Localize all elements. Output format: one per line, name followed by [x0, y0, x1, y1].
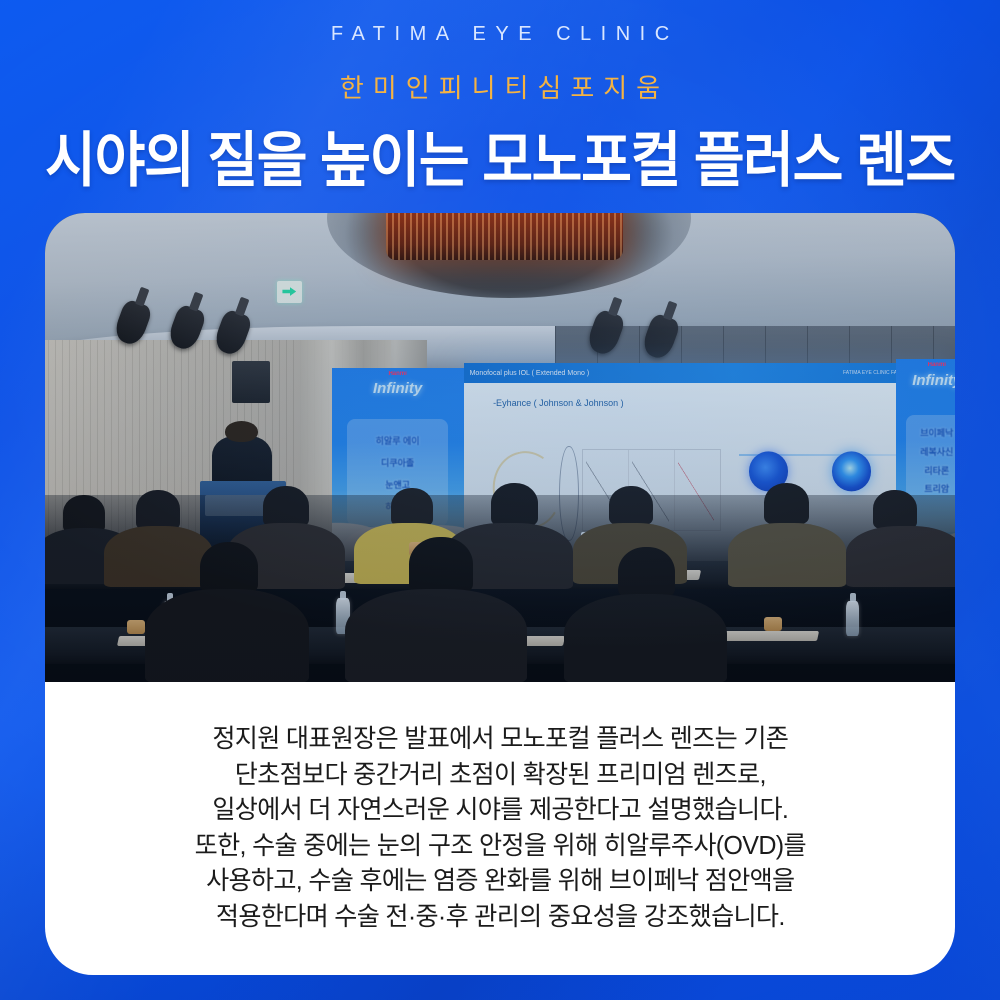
audience-head	[873, 490, 917, 529]
pa-speaker	[232, 361, 270, 403]
audience-shoulders	[104, 526, 213, 587]
audience-head	[136, 490, 180, 529]
slide-header-bar: Monofocal plus IOL ( Extended Mono ) FAT…	[464, 363, 955, 382]
audience-shoulders	[564, 594, 728, 683]
right-panel-logo: Infinity	[896, 372, 955, 389]
audience-head	[618, 547, 674, 599]
exit-sign-icon	[277, 281, 302, 303]
audience-head	[764, 483, 810, 523]
halo-render-eyhance	[832, 452, 871, 491]
left-panel-brand: Hanmi	[332, 371, 464, 377]
audience-head	[409, 537, 473, 593]
list-item: 리타론	[906, 464, 955, 477]
audience-shoulders	[145, 589, 309, 683]
caption-line: 단초점보다 중간거리 초점이 확장된 프리미엄 렌즈로,	[194, 758, 805, 794]
audience-shoulders	[728, 523, 846, 586]
promo-card: FATIMA EYE CLINIC 한미인피니티심포지움 시야의 질을 높이는 …	[0, 0, 1000, 1000]
clinic-name: FATIMA EYE CLINIC	[0, 23, 1000, 46]
left-panel-logo: Infinity	[332, 380, 464, 397]
caption-card: 정지원 대표원장은 발표에서 모노포컬 플러스 렌즈는 기존 단초점보다 중간거…	[45, 682, 955, 975]
chandelier	[386, 213, 623, 260]
caption-line: 사용하고, 수술 후에는 염증 완화를 위해 브이페낙 점안액을	[194, 864, 805, 900]
list-item: 히알루 에이	[347, 434, 447, 447]
audience-head	[491, 483, 538, 525]
audience-head	[609, 486, 653, 525]
audience-head	[391, 488, 433, 526]
caption-text: 정지원 대표원장은 발표에서 모노포컬 플러스 렌즈는 기존 단초점보다 중간거…	[167, 722, 833, 935]
presenter-head	[225, 421, 258, 443]
caption-line: 일상에서 더 자연스러운 시야를 제공한다고 설명했습니다.	[194, 793, 805, 829]
caption-line: 또한, 수술 중에는 눈의 구조 안정을 위해 히알루주사(OVD)를	[194, 829, 805, 865]
right-panel-brand: Hanmi	[896, 362, 955, 368]
snack-cup	[764, 617, 782, 631]
audience-shoulders	[846, 526, 955, 587]
audience-shoulders	[345, 589, 527, 683]
caption-line: 적용한다며 수술 전·중·후 관리의 중요성을 강조했습니다.	[194, 900, 805, 936]
slide-header-title: Monofocal plus IOL ( Extended Mono )	[470, 370, 590, 377]
list-item: 디쿠아졸	[347, 456, 447, 469]
audience-head	[63, 495, 105, 533]
header: FATIMA EYE CLINIC 한미인피니티심포지움 시야의 질을 높이는 …	[0, 0, 1000, 200]
list-item: 브이페낙	[906, 426, 955, 439]
slide-heading: -Eyhance ( Johnson & Johnson )	[493, 398, 624, 408]
snack-cup	[127, 620, 145, 634]
page-title: 시야의 질을 높이는 모노포컬 플러스 렌즈	[40, 112, 960, 199]
audience-head	[200, 542, 258, 594]
conference-photo: Monofocal plus IOL ( Extended Mono ) FAT…	[45, 213, 955, 683]
list-item: 레복사신	[906, 445, 955, 458]
event-subtitle: 한미인피니티심포지움	[0, 68, 1000, 105]
audience-head	[263, 486, 309, 527]
caption-line: 정지원 대표원장은 발표에서 모노포컬 플러스 렌즈는 기존	[194, 722, 805, 758]
water-bottle	[846, 601, 860, 636]
